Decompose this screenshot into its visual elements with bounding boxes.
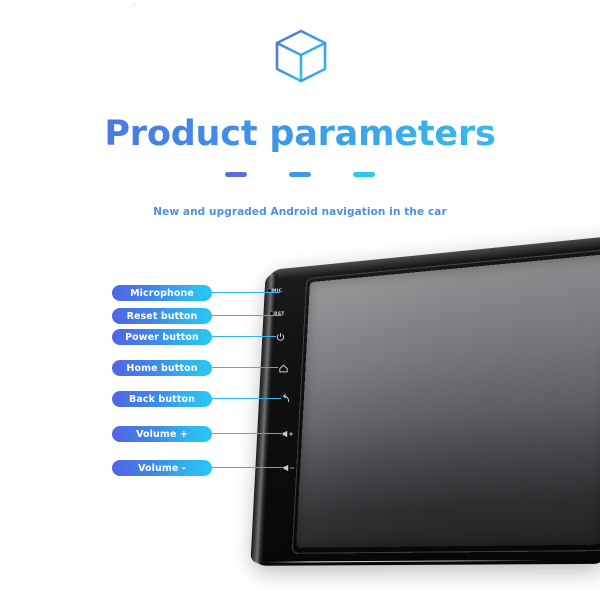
callout-label: Reset button	[127, 311, 198, 322]
page-subtitle: New and upgraded Android navigation in t…	[0, 206, 600, 218]
leader-line-volume-down	[208, 467, 284, 468]
cube-3d-icon	[270, 25, 332, 87]
callout-label: Volume -	[138, 463, 186, 474]
leader-line-power	[208, 336, 276, 337]
screen-glare	[296, 253, 600, 547]
volume-down-icon[interactable]	[283, 463, 296, 473]
callout-volume-up[interactable]: Volume +	[112, 426, 212, 442]
device-illustration: MIC RST	[246, 262, 600, 582]
product-parameters-page: Product parameters New and upgraded Andr…	[0, 0, 600, 600]
leader-line-back	[208, 398, 281, 399]
divider-dash-3	[353, 172, 375, 177]
callout-power-button[interactable]: Power button	[112, 329, 212, 345]
device-screen	[296, 253, 600, 547]
divider-dash-2	[289, 172, 311, 177]
callout-label: Microphone	[130, 288, 194, 299]
callout-label: Back button	[129, 394, 195, 405]
page-title: Product parameters	[0, 112, 600, 156]
title-divider-dashes	[0, 172, 600, 177]
power-icon[interactable]	[275, 332, 286, 343]
callout-label: Volume +	[136, 429, 188, 440]
leader-line-reset	[208, 315, 282, 316]
scan-artifact	[131, 2, 137, 7]
callout-back-button[interactable]: Back button	[112, 391, 212, 407]
callout-volume-down[interactable]: Volume -	[112, 460, 212, 476]
leader-line-volume-up	[208, 433, 282, 434]
callout-home-button[interactable]: Home button	[112, 360, 212, 376]
volume-up-icon[interactable]	[282, 429, 295, 439]
callout-microphone[interactable]: Microphone	[112, 285, 212, 301]
leader-line-home	[208, 367, 278, 368]
leader-line-microphone	[208, 292, 280, 293]
back-arrow-icon[interactable]	[280, 393, 291, 404]
callout-label: Power button	[125, 332, 199, 343]
callout-reset-button[interactable]: Reset button	[112, 308, 212, 324]
home-icon[interactable]	[278, 363, 289, 374]
callout-label: Home button	[126, 363, 197, 374]
divider-dash-1	[225, 172, 247, 177]
